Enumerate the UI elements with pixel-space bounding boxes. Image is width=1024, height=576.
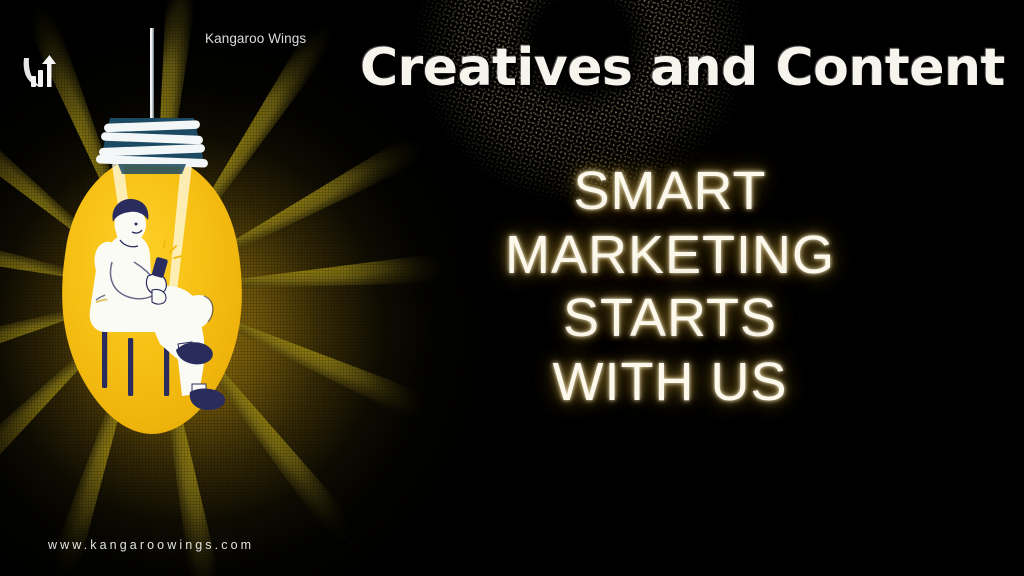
phone: [151, 257, 168, 279]
tagline-line-4: WITH US: [400, 351, 940, 415]
brand-name: Kangaroo Wings: [205, 31, 306, 46]
person-seated-using-phone: [104, 199, 225, 410]
website-url[interactable]: www.kangaroowings.com: [48, 538, 254, 552]
tagline-line-2: MARKETING: [400, 224, 940, 288]
phone-sparkle: [164, 241, 182, 258]
armchair: [90, 242, 213, 396]
tagline-line-3: STARTS: [400, 287, 940, 351]
page-title: Creatives and Content: [360, 42, 980, 94]
bulb-glass: [62, 155, 242, 434]
tagline-block: SMART MARKETING STARTS WITH US: [400, 160, 940, 415]
poster-canvas: Kangaroo Wings www.kangaroowings.com: [0, 0, 1024, 576]
filament-light-shafts: [112, 152, 192, 300]
bar-chart-growth-arrow-icon[interactable]: [20, 52, 56, 92]
tagline-line-1: SMART: [400, 160, 940, 224]
hanging-wire: [150, 28, 154, 120]
bulb-screw-cap: [96, 118, 208, 174]
